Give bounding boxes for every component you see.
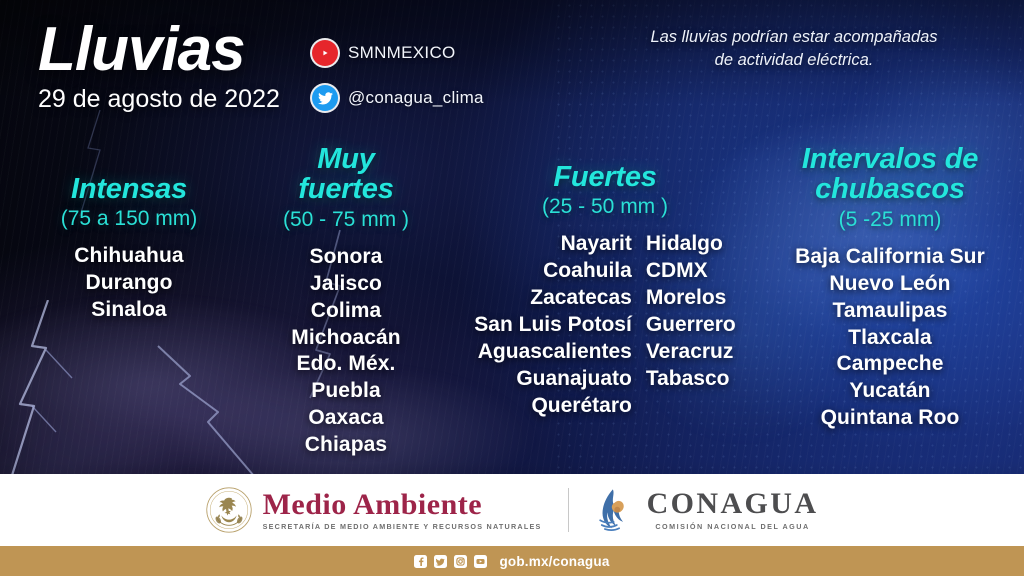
state-item: Querétaro <box>474 393 632 420</box>
state-item: Edo. Méx. <box>248 351 444 378</box>
medio-ambiente-subtitle: SECRETARÍA DE MEDIO AMBIENTE Y RECURSOS … <box>263 523 542 530</box>
electrical-activity-note: Las lluvias podrían estar acompañadas de… <box>594 26 994 72</box>
state-item: Colima <box>248 298 444 325</box>
column-intensas: Intensas (75 a 150 mm) Chihuahua Durango… <box>16 132 242 324</box>
medio-ambiente-logo: Medio Ambiente SECRETARÍA DE MEDIO AMBIE… <box>206 487 542 533</box>
column-fuertes-heading: Fuertes <box>450 162 760 192</box>
column-muy-fuertes-heading: Muy fuertes <box>248 144 444 205</box>
state-item: Tamaulipas <box>766 298 1014 325</box>
twitter-handle: @conagua_clima <box>348 88 484 108</box>
column-intervalos-chubascos-range: (5 -25 mm) <box>766 208 1014 232</box>
state-item: Yucatán <box>766 378 1014 405</box>
state-item: Baja California Sur <box>766 244 1014 271</box>
state-item: Veracruz <box>646 339 736 366</box>
state-item: Nuevo León <box>766 271 1014 298</box>
medio-ambiente-text: Medio Ambiente SECRETARÍA DE MEDIO AMBIE… <box>263 490 542 530</box>
state-item: CDMX <box>646 258 736 285</box>
poster-header: Lluvias 29 de agosto de 2022 SMNMEXICO <box>0 0 1024 132</box>
conagua-water-eagle-icon <box>595 487 637 533</box>
mexican-eagle-seal-icon <box>206 487 252 533</box>
heading-line-1: Muy <box>248 144 444 174</box>
state-item: San Luis Potosí <box>474 312 632 339</box>
heading-line-2: chubascos <box>766 174 1014 204</box>
conagua-logo: CONAGUA COMISIÓN NACIONAL DEL AGUA <box>595 487 819 533</box>
column-intensas-range: (75 a 150 mm) <box>16 207 242 231</box>
column-intervalos-chubascos: Intervalos de chubascos (5 -25 mm) Baja … <box>766 132 1014 432</box>
state-item: Guanajuato <box>474 366 632 393</box>
rain-intensity-columns: Intensas (75 a 150 mm) Chihuahua Durango… <box>0 132 1024 474</box>
state-item: Durango <box>16 270 242 297</box>
twitter-icon <box>312 85 338 111</box>
state-item: Oaxaca <box>248 405 444 432</box>
state-item: Quintana Roo <box>766 405 1014 432</box>
youtube-handle: SMNMEXICO <box>348 43 456 63</box>
column-muy-fuertes-states: Sonora Jalisco Colima Michoacán Edo. Méx… <box>248 244 444 459</box>
state-item: Chiapas <box>248 432 444 459</box>
state-item: Tabasco <box>646 366 736 393</box>
footer-logo-bar: Medio Ambiente SECRETARÍA DE MEDIO AMBIE… <box>0 474 1024 546</box>
state-item: Aguascalientes <box>474 339 632 366</box>
heading-line-1: Intervalos de <box>766 144 1014 174</box>
column-fuertes-states-right: Hidalgo CDMX Morelos Guerrero Veracruz T… <box>646 231 736 419</box>
state-item: Sinaloa <box>16 297 242 324</box>
medio-ambiente-title: Medio Ambiente <box>263 488 482 521</box>
column-intervalos-chubascos-heading: Intervalos de chubascos <box>766 144 1014 205</box>
state-item: Sonora <box>248 244 444 271</box>
state-item: Nayarit <box>474 231 632 258</box>
column-muy-fuertes-range: (50 - 75 mm ) <box>248 208 444 232</box>
note-line-2: de actividad eléctrica. <box>715 51 874 69</box>
conagua-text: CONAGUA COMISIÓN NACIONAL DEL AGUA <box>647 489 819 530</box>
footer-social-bar: gob.mx/conagua <box>0 546 1024 576</box>
youtube-icon <box>312 40 338 66</box>
conagua-subtitle: COMISIÓN NACIONAL DEL AGUA <box>647 523 819 530</box>
forecast-date: 29 de agosto de 2022 <box>38 85 280 114</box>
state-item: Puebla <box>248 378 444 405</box>
logo-divider <box>568 488 569 532</box>
title-block: Lluvias 29 de agosto de 2022 <box>38 18 280 114</box>
state-item: Guerrero <box>646 312 736 339</box>
header-social-handles: SMNMEXICO @conagua_clima <box>312 40 484 130</box>
state-item: Morelos <box>646 285 736 312</box>
facebook-icon[interactable] <box>414 555 427 568</box>
state-item: Coahuila <box>474 258 632 285</box>
column-fuertes-range: (25 - 50 mm ) <box>450 195 760 219</box>
state-item: Jalisco <box>248 271 444 298</box>
column-intensas-heading: Intensas <box>16 174 242 204</box>
state-item: Michoacán <box>248 325 444 352</box>
column-muy-fuertes: Muy fuertes (50 - 75 mm ) Sonora Jalisco… <box>248 132 444 459</box>
page-title: Lluvias <box>38 18 280 81</box>
instagram-icon[interactable] <box>454 555 467 568</box>
state-item: Hidalgo <box>646 231 736 258</box>
youtube-icon[interactable] <box>474 555 487 568</box>
state-item: Chihuahua <box>16 243 242 270</box>
column-fuertes-states: Nayarit Coahuila Zacatecas San Luis Poto… <box>450 231 760 419</box>
column-intervalos-chubascos-states: Baja California Sur Nuevo León Tamaulipa… <box>766 244 1014 432</box>
column-fuertes: Fuertes (25 - 50 mm ) Nayarit Coahuila Z… <box>450 132 760 420</box>
state-item: Tlaxcala <box>766 325 1014 352</box>
column-intensas-states: Chihuahua Durango Sinaloa <box>16 243 242 324</box>
social-row-twitter[interactable]: @conagua_clima <box>312 85 484 111</box>
gob-url[interactable]: gob.mx/conagua <box>499 554 609 569</box>
state-item: Zacatecas <box>474 285 632 312</box>
note-line-1: Las lluvias podrían estar acompañadas <box>650 28 937 46</box>
column-fuertes-states-left: Nayarit Coahuila Zacatecas San Luis Poto… <box>474 231 632 419</box>
conagua-title: CONAGUA <box>647 487 819 520</box>
rain-forecast-infographic: Lluvias 29 de agosto de 2022 SMNMEXICO <box>0 0 1024 576</box>
heading-line-2: fuertes <box>248 174 444 204</box>
social-row-youtube[interactable]: SMNMEXICO <box>312 40 484 66</box>
state-item: Campeche <box>766 351 1014 378</box>
twitter-icon[interactable] <box>434 555 447 568</box>
